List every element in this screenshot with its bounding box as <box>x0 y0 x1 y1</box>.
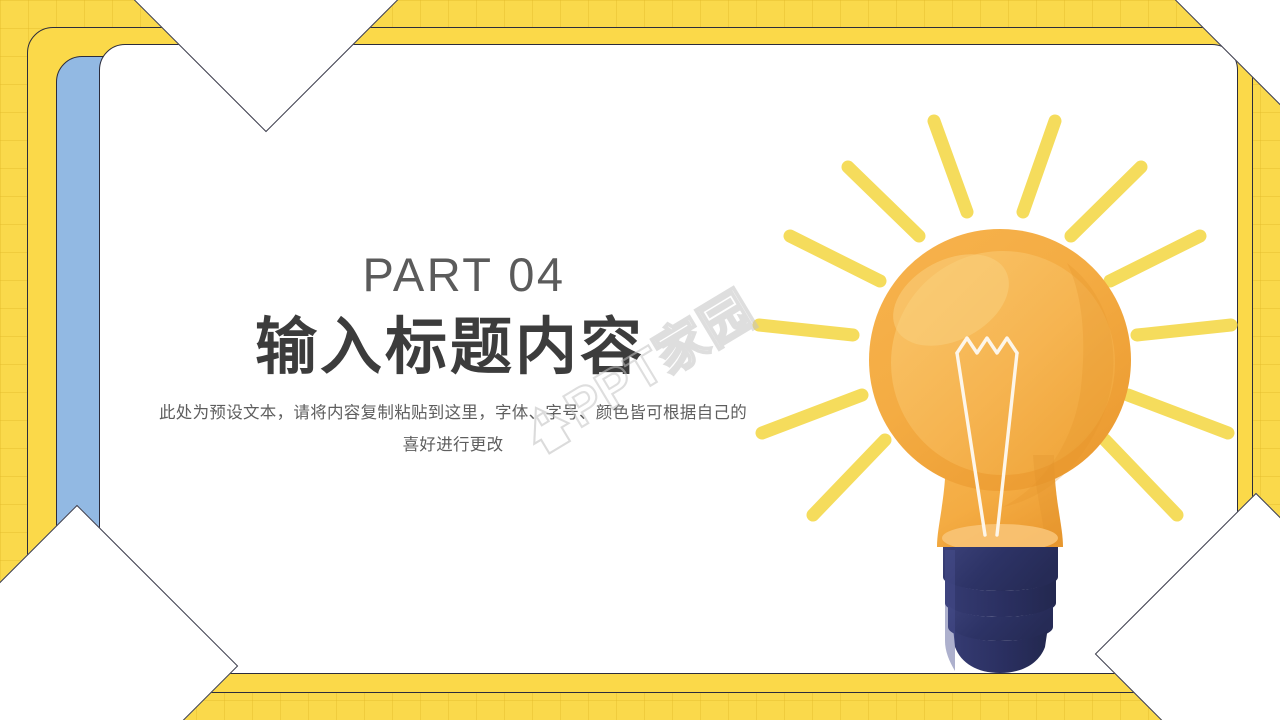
lightbulb-icon <box>745 95 1255 675</box>
subtitle-text: 此处为预设文本，请将内容复制粘贴到这里，字体、字号、颜色皆可根据自己的喜好进行更… <box>150 397 750 461</box>
page-title: 输入标题内容 <box>110 313 790 382</box>
part-label: PART 04 <box>110 250 790 299</box>
title-text-block: PART 04 输入标题内容 此处为预设文本，请将内容复制粘贴到这里，字体、字号… <box>110 250 790 461</box>
slide-canvas: PART 04 输入标题内容 此处为预设文本，请将内容复制粘贴到这里，字体、字号… <box>0 0 1280 720</box>
